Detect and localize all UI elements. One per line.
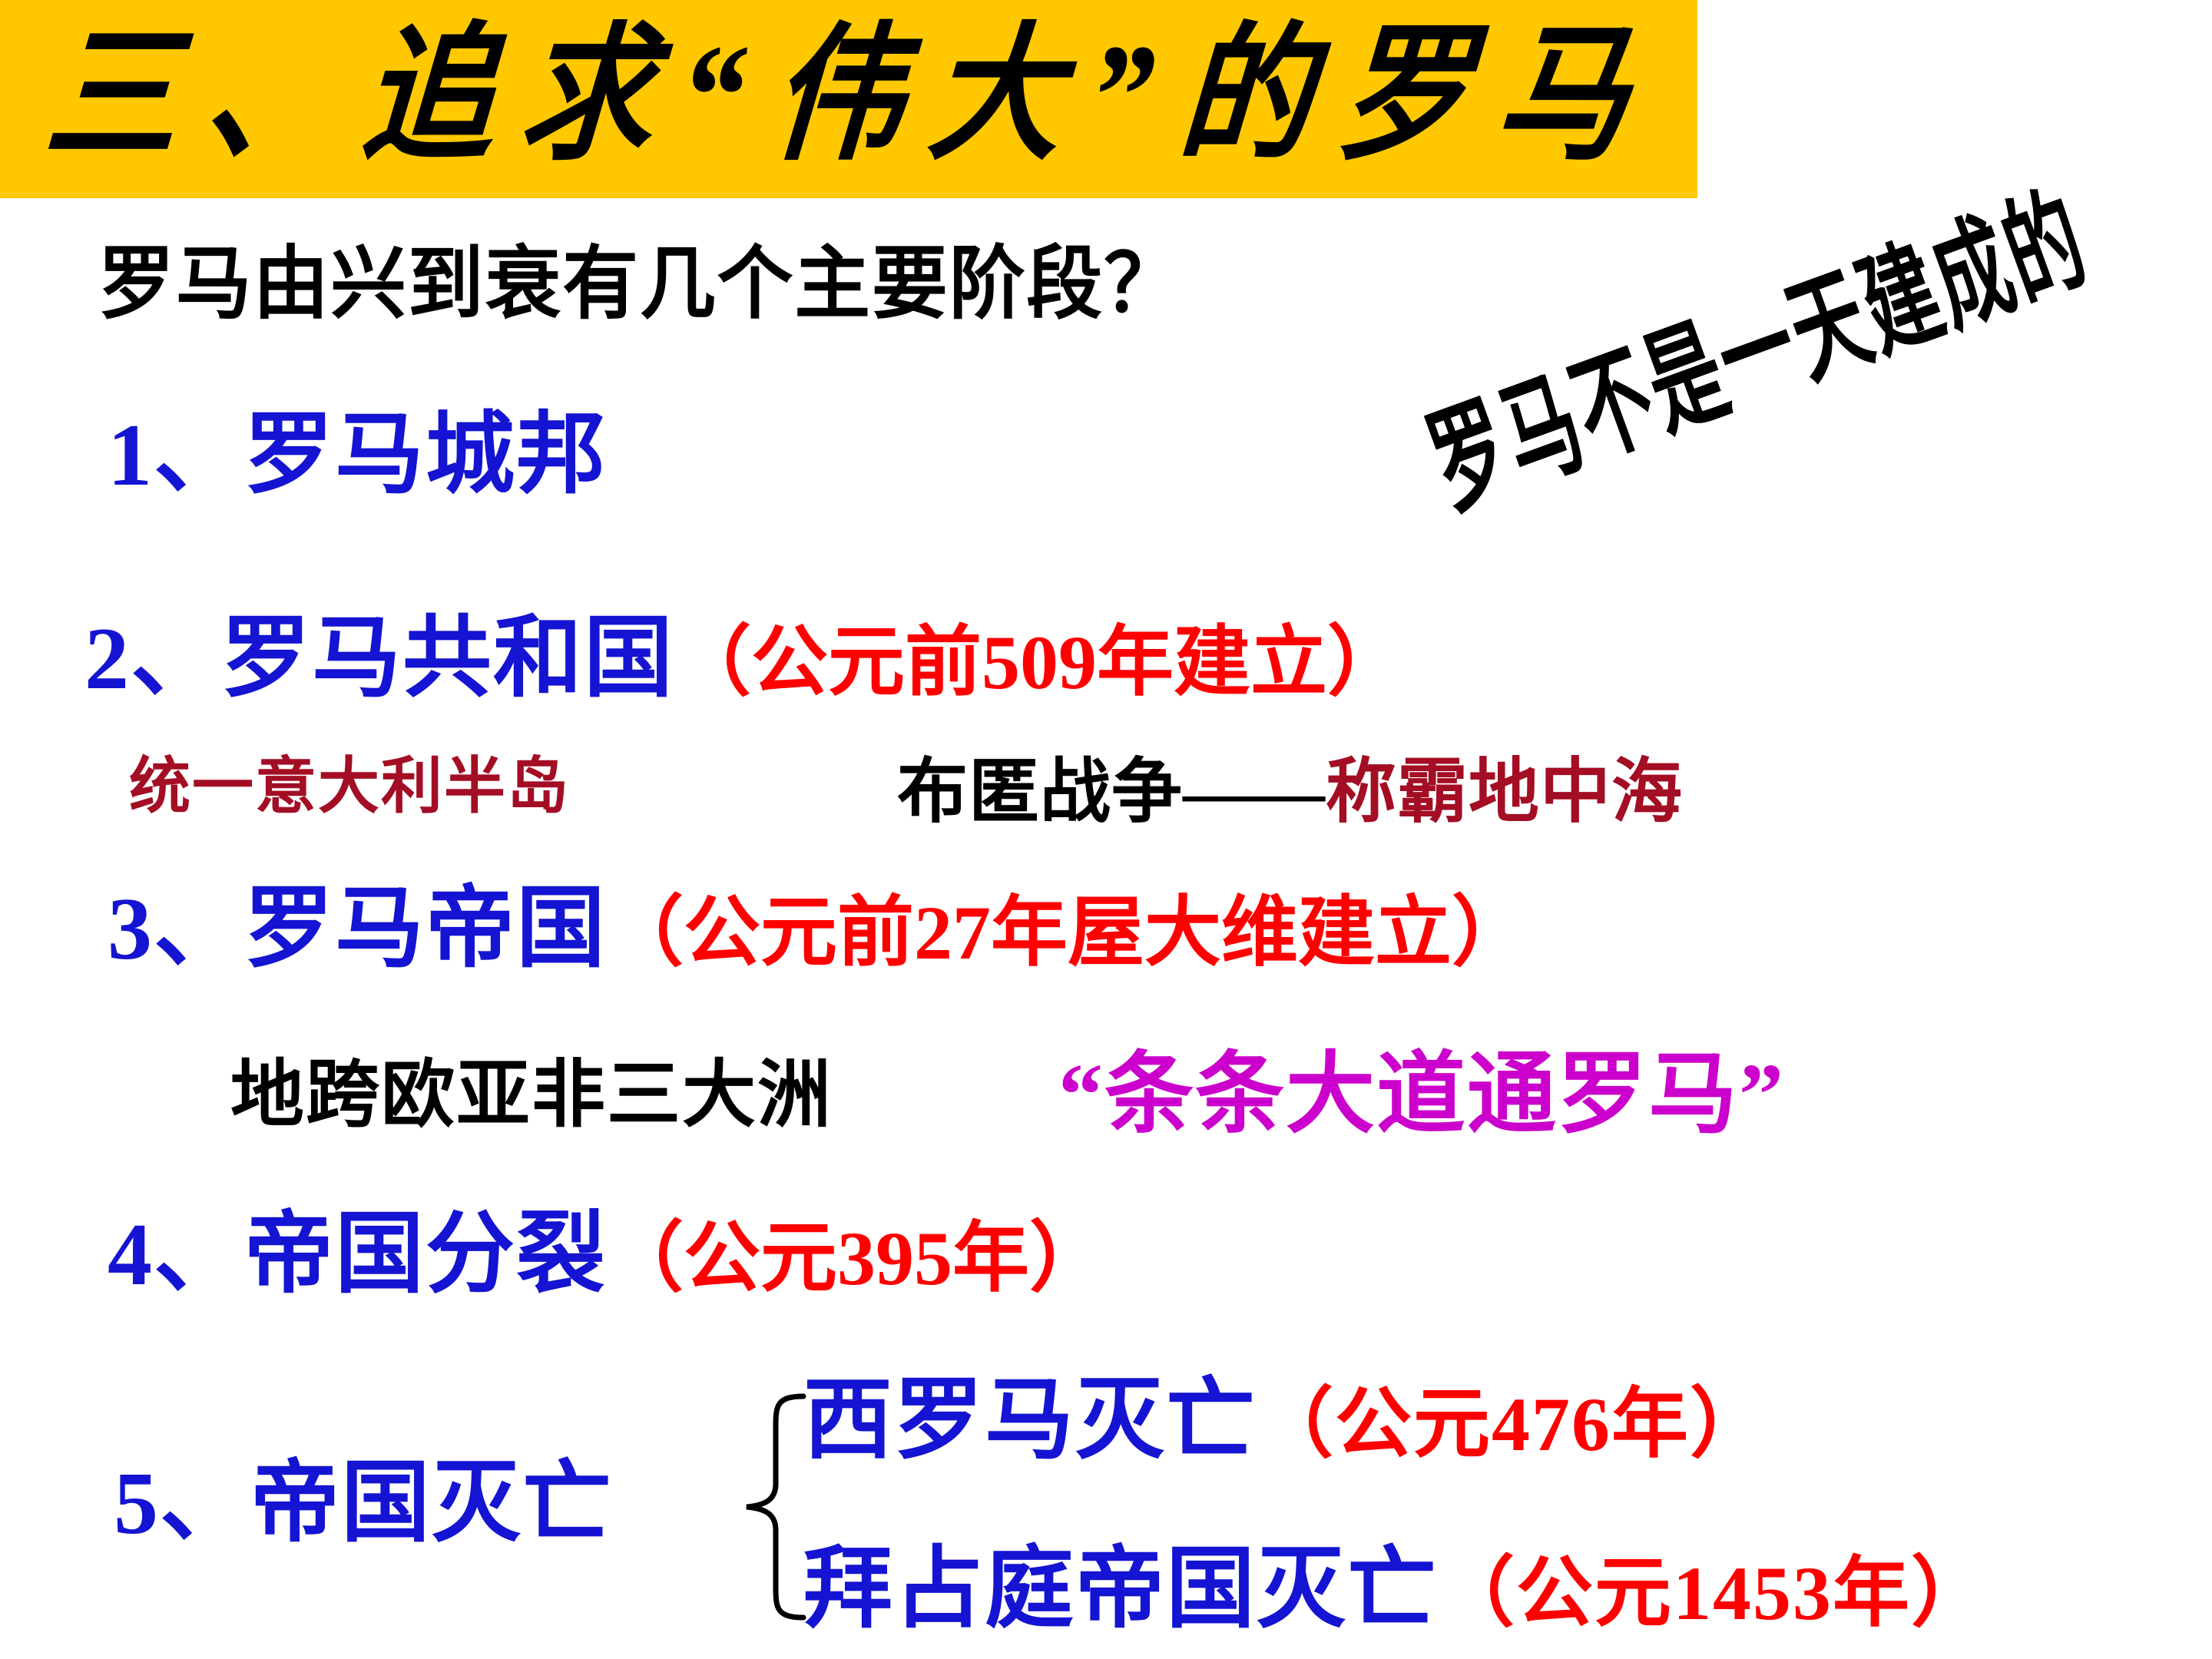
stage-item-3: 3、罗马帝国（公元前27年屋大维建立） [108,885,1528,974]
stage-item-1: 1、罗马城邦 [108,411,607,500]
stage-3-date: （公元前27年屋大维建立） [607,890,1528,975]
fall-branch-byzantine: 拜占庭帝国灭亡（公元1453年） [803,1545,1989,1634]
stage-5-number: 5、 [114,1455,250,1553]
fall-branch-1-date: （公元476年） [1257,1382,1768,1467]
fall-branch-west-rome: 西罗马灭亡（公元476年） [803,1376,1768,1465]
stage-4-label: 帝国分裂 [244,1206,607,1304]
stage-4-number: 4、 [108,1206,244,1304]
title-banner: 三、追求“伟大”的罗马 [0,0,1697,198]
proverb-text: 罗马不是一天建成的 [1416,180,2101,525]
stage-4-date: （公元395年） [607,1216,1106,1301]
note-all-roads-lead-to-rome: “条条大道通罗马” [1058,1051,1785,1140]
stage-2-number: 2、 [84,610,221,708]
stage-2-label: 罗马共和国 [221,610,674,708]
note-unify-italy: 统一意大利半岛 [129,757,570,818]
stage-1-label: 罗马城邦 [244,406,607,505]
stage-3-number: 3、 [108,880,244,979]
question-text: 罗马由兴到衰有几个主要阶段？ [98,244,1181,324]
stage-item-5: 5、帝国灭亡 [114,1459,613,1548]
note-punic-war: 布匿战争——称霸地中海 [897,757,1683,827]
curly-brace-icon [730,1392,814,1622]
fall-branch-2-date: （公元1453年） [1438,1551,1989,1636]
stage-item-4: 4、帝国分裂（公元395年） [108,1210,1106,1300]
stage-3-label: 罗马帝国 [244,880,607,979]
fall-branch-1-label: 西罗马灭亡 [803,1372,1257,1470]
stage-1-number: 1、 [108,406,244,505]
stage-2-date: （公元前509年建立） [674,620,1404,705]
slide-canvas: 三、追求“伟大”的罗马 罗马由兴到衰有几个主要阶段？ 罗马不是一天建成的 1、罗… [0,0,2212,1659]
slide-title: 三、追求“伟大”的罗马 [39,0,1681,198]
fall-branch-2-label: 拜占庭帝国灭亡 [803,1541,1438,1639]
stage-item-2: 2、罗马共和国（公元前509年建立） [84,614,1404,704]
stage-5-label: 帝国灭亡 [250,1455,613,1553]
note-punic-war-label: 布匿战争—— [897,753,1326,831]
note-three-continents: 地跨欧亚非三大洲 [230,1058,833,1132]
note-punic-war-result: 称霸地中海 [1326,753,1683,831]
